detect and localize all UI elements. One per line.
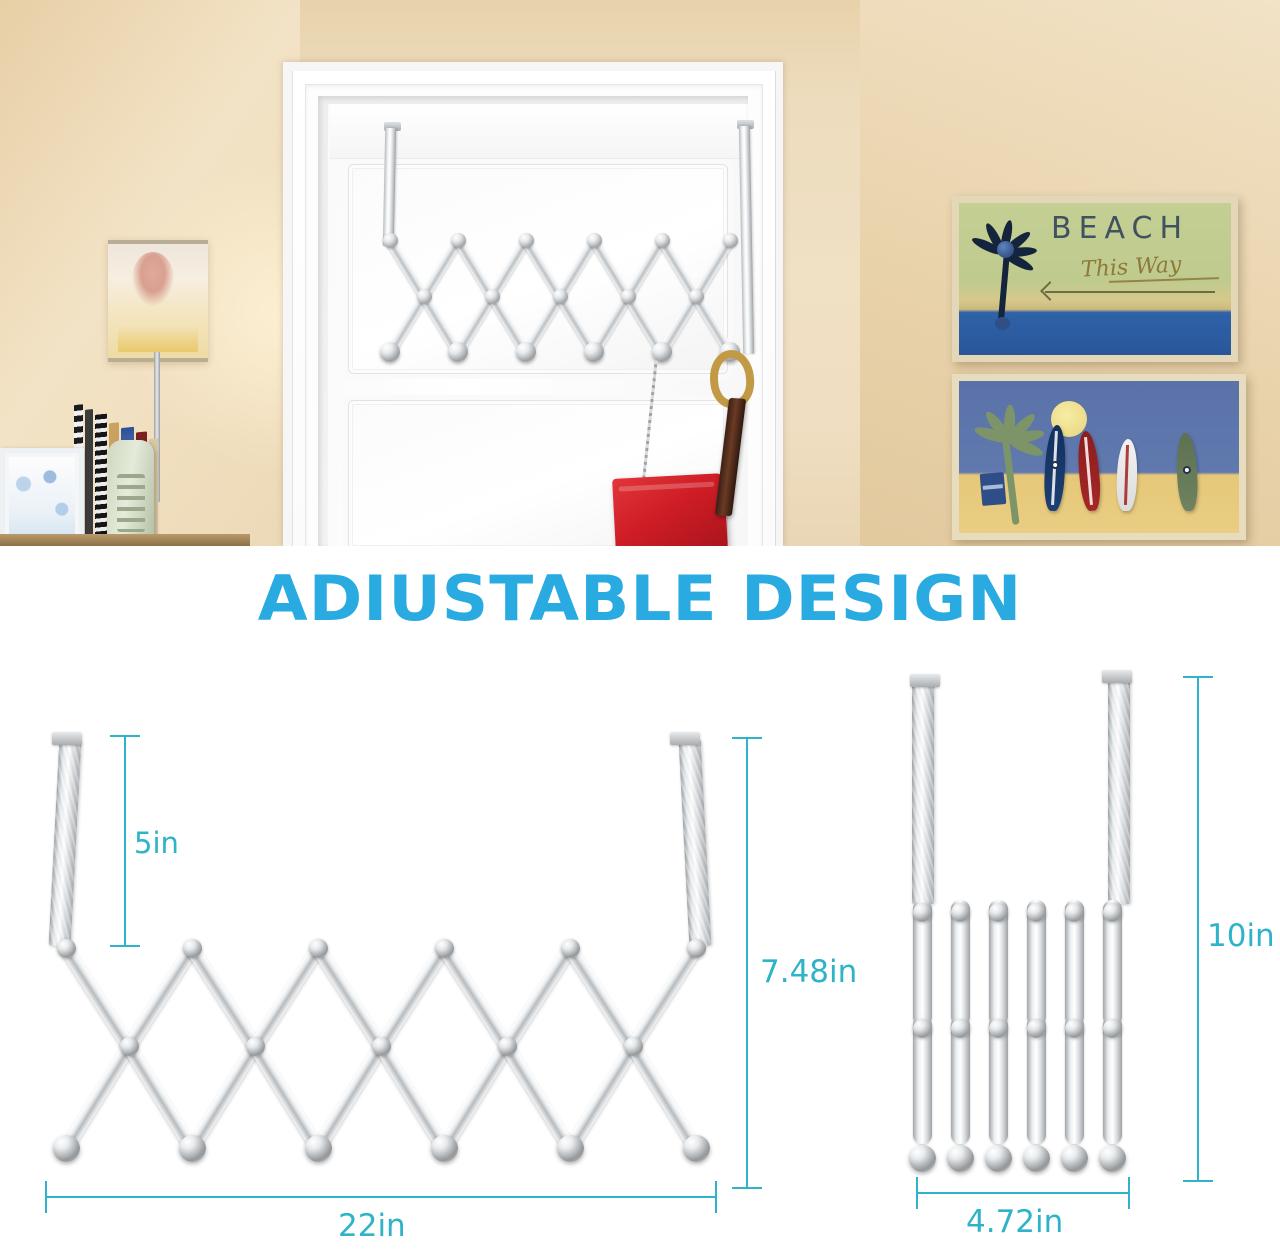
product-infographic: BEACH This Way ADIUSTABLE DESIGN <box>0 0 1280 1250</box>
dimension-label-22in: 22in <box>338 1208 406 1244</box>
rack-rivet <box>989 903 1008 922</box>
door-hanger-lip-left <box>910 674 940 687</box>
door-hanger-lip-right <box>1102 670 1132 683</box>
rack-rivet <box>951 903 970 922</box>
dimension-cap <box>1183 1180 1213 1182</box>
rack-hook-ball <box>947 1145 974 1172</box>
dimension-cap <box>916 1177 918 1209</box>
dimension-label-10in: 10in <box>1207 918 1275 954</box>
door-hanger-bracket-left <box>912 682 934 904</box>
rack-hook-ball <box>909 1145 936 1172</box>
dimension-cap <box>1128 1177 1130 1209</box>
rack-rivet <box>913 1019 932 1038</box>
rack-rivet <box>1103 1019 1122 1038</box>
dimension-line-collapsed-width <box>916 1192 1130 1194</box>
rack-hook-ball <box>1099 1145 1126 1172</box>
rack-hook-ball <box>1061 1145 1088 1172</box>
rack-rivet <box>1065 1019 1084 1038</box>
dimension-cap <box>1183 676 1213 678</box>
rack-rivet <box>1027 903 1046 922</box>
rack-hook-ball <box>1023 1145 1050 1172</box>
dimension-label-472in: 4.72in <box>966 1204 1063 1240</box>
rack-rivet <box>913 903 932 922</box>
dimension-line-collapsed-height <box>1197 676 1199 1182</box>
rack-hook-ball <box>985 1145 1012 1172</box>
collapsed-rack-diagram <box>0 0 1280 1200</box>
rack-rivet <box>1103 903 1122 922</box>
rack-rivet <box>1065 903 1084 922</box>
rack-rivet <box>1027 1019 1046 1038</box>
door-hanger-bracket-right <box>1108 678 1130 904</box>
rack-rivet <box>989 1019 1008 1038</box>
rack-rivet <box>951 1019 970 1038</box>
